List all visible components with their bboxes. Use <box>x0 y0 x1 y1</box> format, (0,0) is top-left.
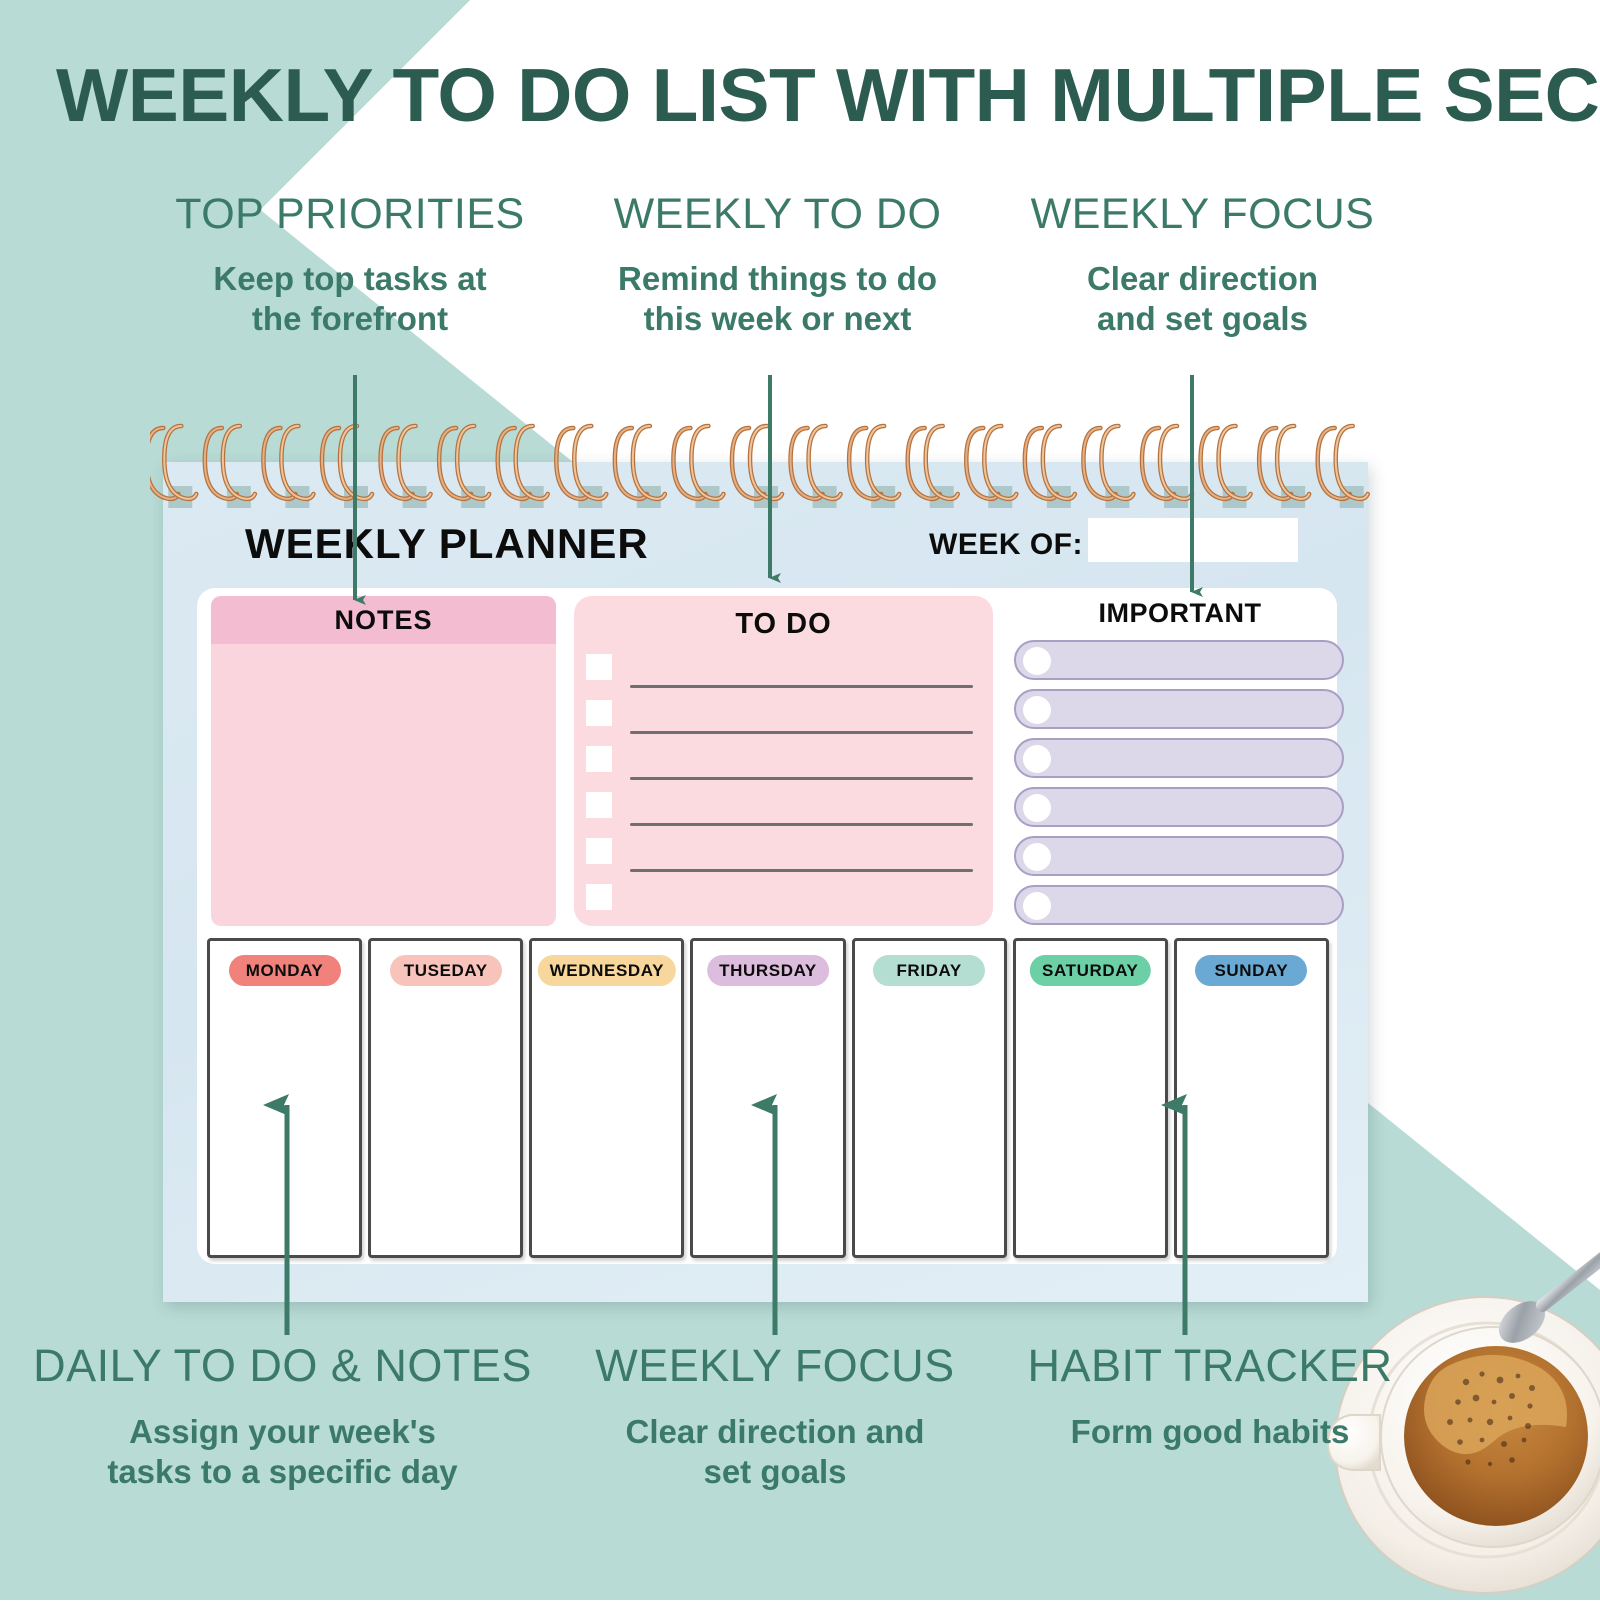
callout-subtitle: Keep top tasks at the forefront <box>140 259 560 340</box>
callout-title: WEEKLY TO DO <box>575 190 980 239</box>
todo-checkbox[interactable] <box>586 792 612 818</box>
day-label-pill: THURSDAY <box>707 955 829 986</box>
todo-writing-line <box>630 777 973 780</box>
todo-checkbox[interactable] <box>586 746 612 772</box>
day-label-pill: TUSEDAY <box>390 955 502 986</box>
todo-row[interactable] <box>586 838 981 881</box>
day-label-pill: FRIDAY <box>873 955 985 986</box>
notes-header: NOTES <box>211 596 556 644</box>
important-checkbox-circle[interactable] <box>1023 647 1051 675</box>
important-checkbox-circle[interactable] <box>1023 745 1051 773</box>
todo-row[interactable] <box>586 654 981 697</box>
important-checkbox-circle[interactable] <box>1023 794 1051 822</box>
callout-title: DAILY TO DO & NOTES <box>10 1340 555 1392</box>
todo-checkbox[interactable] <box>586 838 612 864</box>
important-title: IMPORTANT <box>1009 598 1351 629</box>
todo-checkbox[interactable] <box>586 884 612 910</box>
todo-row[interactable] <box>586 746 981 789</box>
callout-daily-todo-notes: DAILY TO DO & NOTES Assign your week's t… <box>10 1340 555 1493</box>
notes-title: NOTES <box>334 605 432 636</box>
callout-weekly-todo: WEEKLY TO DO Remind things to do this we… <box>575 190 980 340</box>
important-row[interactable] <box>1014 885 1344 925</box>
planner-card: WEEKLY PLANNER WEEK OF: NOTES TO DO IMPO… <box>163 462 1368 1302</box>
todo-writing-line <box>630 823 973 826</box>
callout-title: WEEKLY FOCUS <box>575 1340 975 1392</box>
callout-habit-tracker: HABIT TRACKER Form good habits <box>1000 1340 1420 1452</box>
callout-title: TOP PRIORITIES <box>140 190 560 239</box>
todo-row[interactable] <box>586 700 981 743</box>
callout-subtitle: Assign your week's tasks to a specific d… <box>10 1412 555 1493</box>
callout-subtitle: Form good habits <box>1000 1412 1420 1452</box>
notes-body[interactable] <box>211 644 556 926</box>
todo-title: TO DO <box>574 608 993 641</box>
important-row[interactable] <box>1014 640 1344 680</box>
day-column-friday[interactable]: FRIDAY <box>852 938 1007 1258</box>
todo-writing-line <box>630 731 973 734</box>
callout-subtitle: Clear direction and set goals <box>1000 259 1405 340</box>
important-row[interactable] <box>1014 738 1344 778</box>
day-label-pill: SUNDAY <box>1195 955 1307 986</box>
todo-checkbox[interactable] <box>586 700 612 726</box>
day-label-pill: MONDAY <box>229 955 341 986</box>
important-panel: IMPORTANT <box>1009 592 1351 930</box>
todo-row[interactable] <box>586 884 981 926</box>
todo-writing-line <box>630 685 973 688</box>
day-column-saturday[interactable]: SATURDAY <box>1013 938 1168 1258</box>
notes-panel[interactable]: NOTES <box>211 596 556 926</box>
todo-panel: TO DO <box>574 596 993 926</box>
day-column-thursday[interactable]: THURSDAY <box>690 938 845 1258</box>
important-row[interactable] <box>1014 689 1344 729</box>
callout-subtitle: Remind things to do this week or next <box>575 259 980 340</box>
todo-checkbox[interactable] <box>586 654 612 680</box>
todo-row[interactable] <box>586 792 981 835</box>
important-row[interactable] <box>1014 787 1344 827</box>
day-column-monday[interactable]: MONDAY <box>207 938 362 1258</box>
callout-weekly-focus: WEEKLY FOCUS Clear direction and set goa… <box>1000 190 1405 340</box>
spiral-binding-icon <box>150 408 1380 528</box>
days-row: MONDAYTUSEDAYWEDNESDAYTHURSDAYFRIDAYSATU… <box>207 938 1329 1258</box>
important-row[interactable] <box>1014 836 1344 876</box>
week-of-label: WEEK OF: <box>929 528 1083 562</box>
planner-sheet: NOTES TO DO IMPORTANT MONDAYTUSEDAYWEDNE… <box>197 588 1337 1264</box>
callout-top-priorities: TOP PRIORITIES Keep top tasks at the for… <box>140 190 560 340</box>
important-checkbox-circle[interactable] <box>1023 843 1051 871</box>
day-column-wednesday[interactable]: WEDNESDAY <box>529 938 684 1258</box>
callout-title: WEEKLY FOCUS <box>1000 190 1405 239</box>
page-title: WEEKLY TO DO LIST WITH MULTIPLE SECTIONS <box>56 52 1586 138</box>
important-checkbox-circle[interactable] <box>1023 696 1051 724</box>
day-column-tuseday[interactable]: TUSEDAY <box>368 938 523 1258</box>
callout-weekly-focus-bottom: WEEKLY FOCUS Clear direction and set goa… <box>575 1340 975 1493</box>
important-checkbox-circle[interactable] <box>1023 892 1051 920</box>
todo-writing-line <box>630 869 973 872</box>
day-label-pill: WEDNESDAY <box>538 955 676 986</box>
callout-subtitle: Clear direction and set goals <box>575 1412 975 1493</box>
day-column-sunday[interactable]: SUNDAY <box>1174 938 1329 1258</box>
callout-title: HABIT TRACKER <box>1000 1340 1420 1392</box>
day-label-pill: SATURDAY <box>1030 955 1150 986</box>
